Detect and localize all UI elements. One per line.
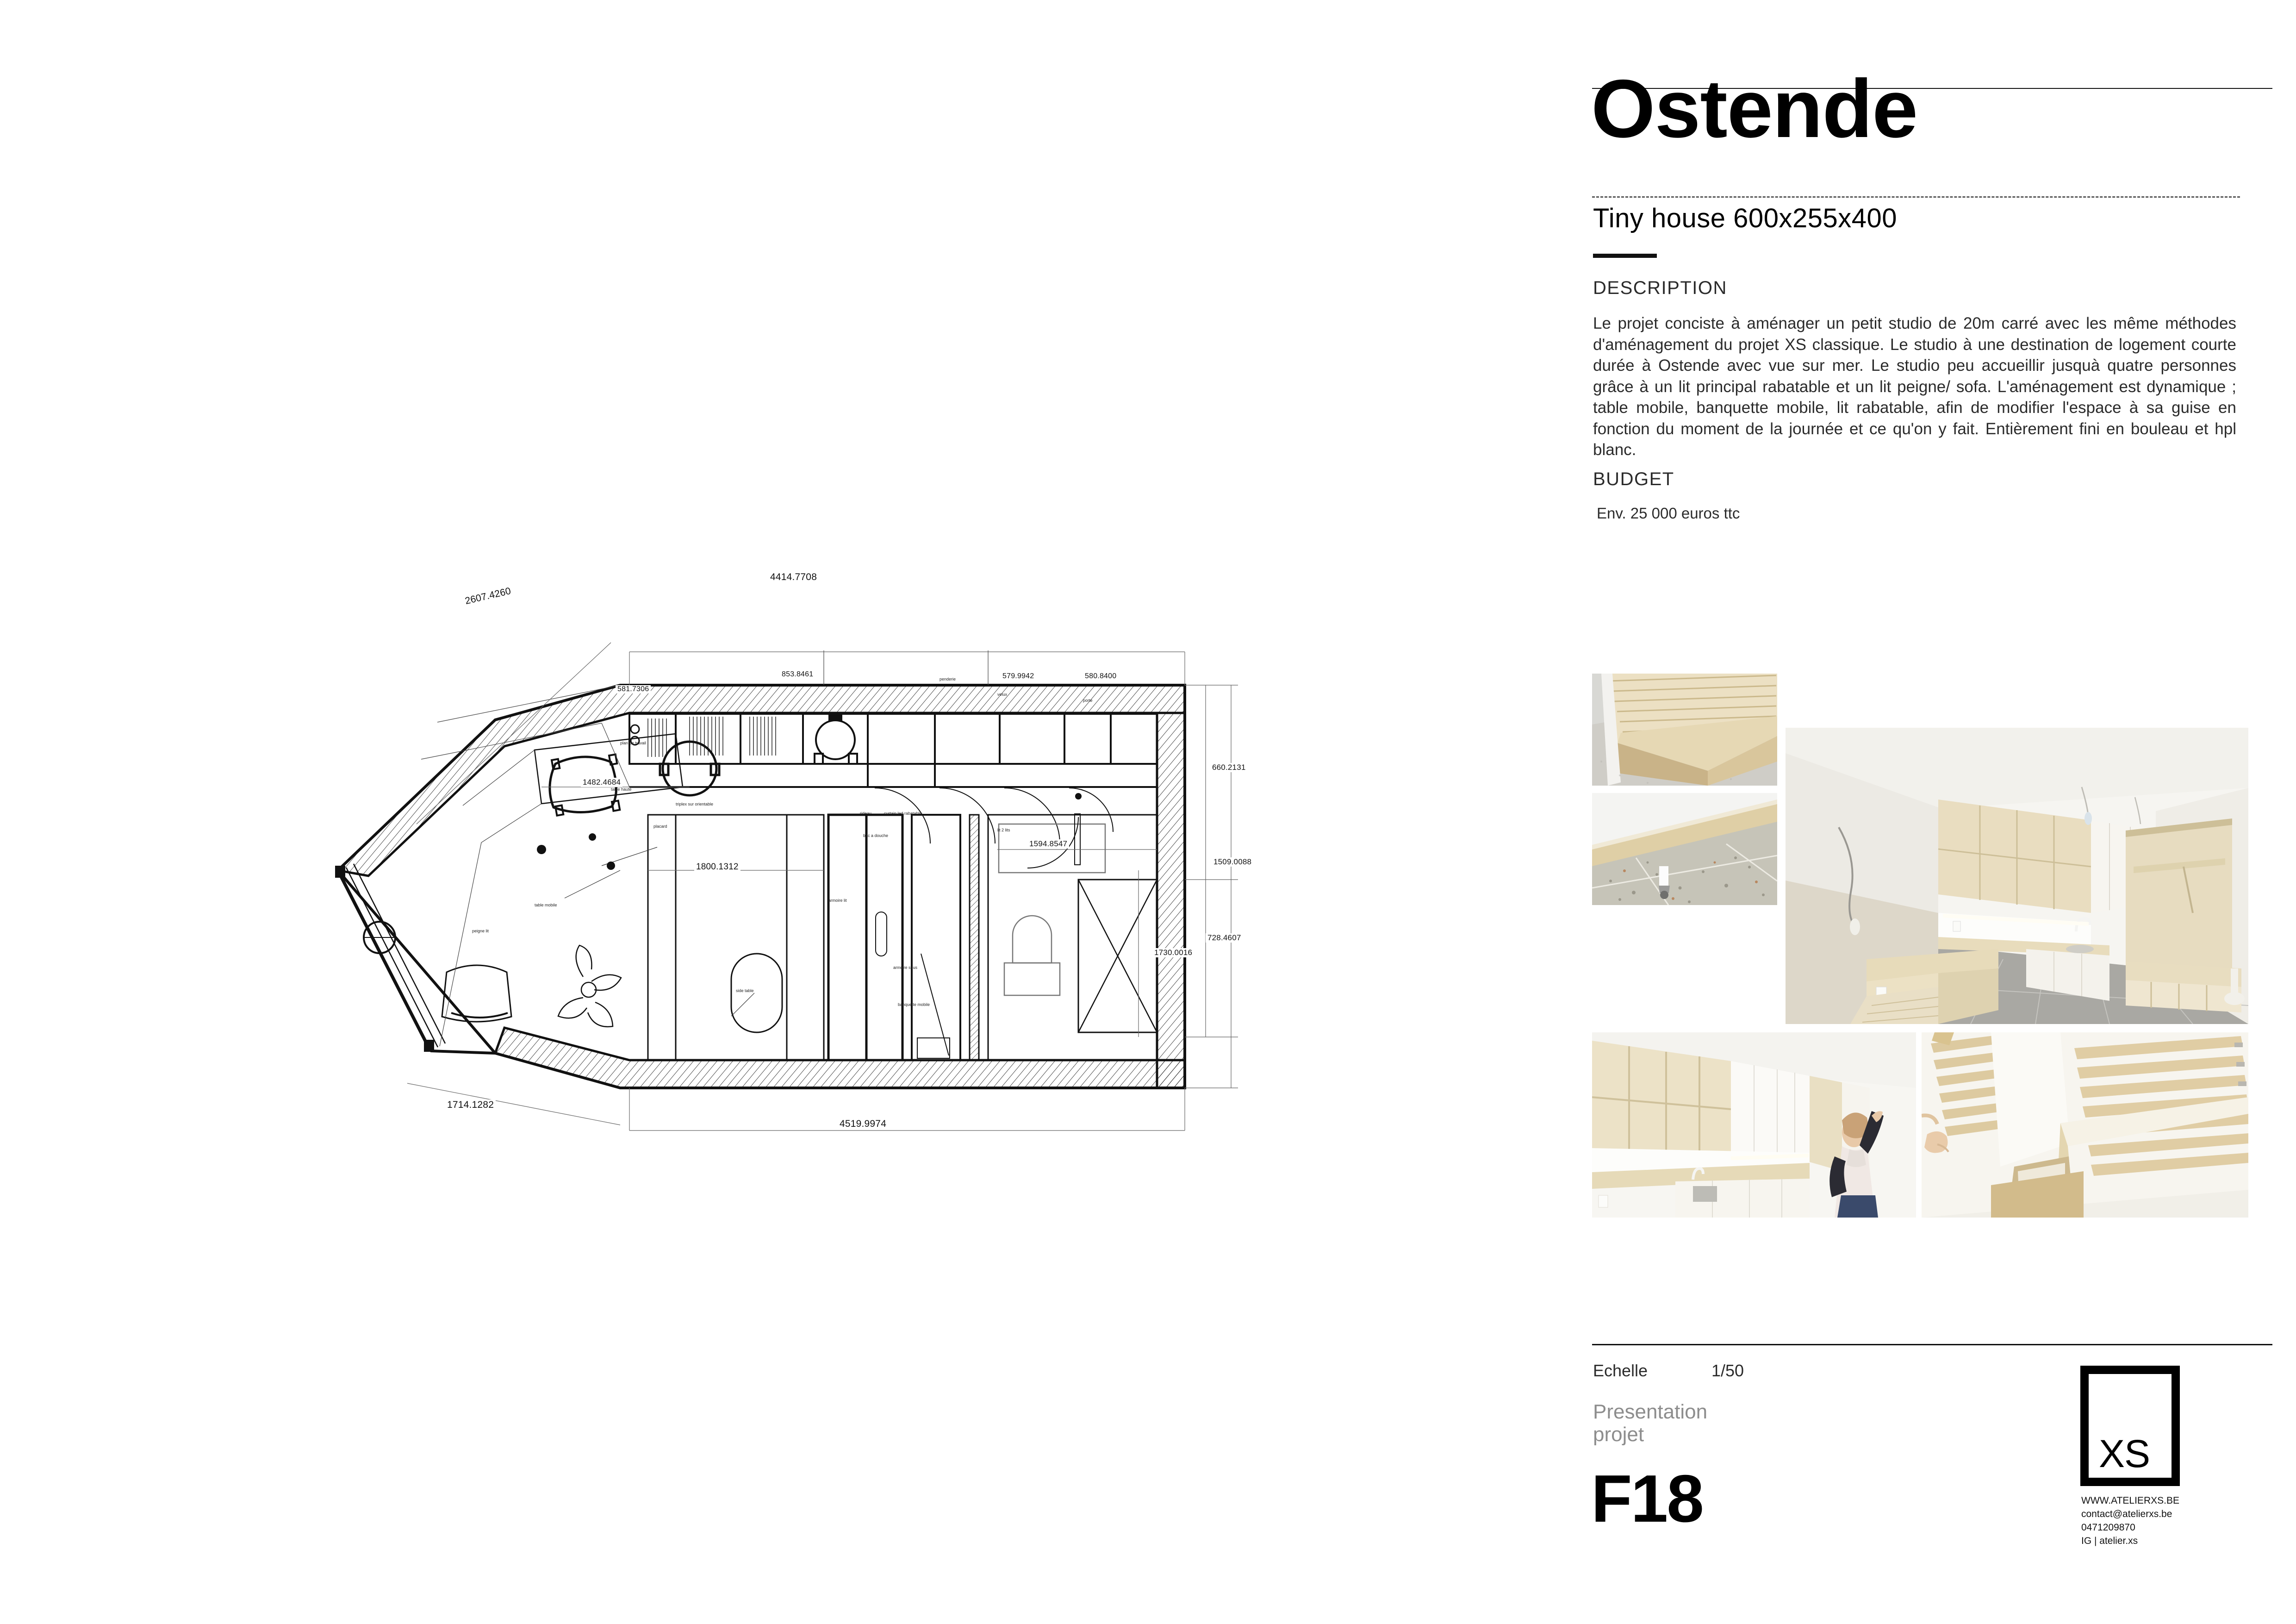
dim-bed: 1800.1312 [694,862,740,872]
plan-wall-east [1157,713,1185,1088]
plan-hob [815,713,857,764]
dim-bath-w: 1594.8547 [1027,839,1069,849]
note-rideau: rideau [860,811,871,816]
plan-armchair [442,965,511,1022]
description-heading: DESCRIPTION [1593,278,1727,299]
note-table-mobile: table mobile [535,903,557,907]
plan-wall-south [495,1028,1185,1088]
plan-outer-wall [338,685,1185,1088]
note-banquette-mobile: banquette mobile [898,1002,930,1007]
note-side-table: side table [736,988,754,993]
title-dashed-rule [1592,196,2240,198]
dim-table: 1482.4684 [581,778,622,787]
plan-hall [912,815,960,1060]
plan-leader-lines [565,847,754,1016]
info-panel: Ostende Tiny house 600x255x400 DESCRIPTI… [1541,0,2296,1624]
description-body: Le projet conciste à aménager un petit s… [1593,313,2236,461]
budget-heading: BUDGET [1593,469,1674,490]
dim-kitchen-d: 580.8400 [1083,672,1118,681]
dim-kitchen-b: 853.8461 [780,670,815,679]
note-armoire-sous: armoire sous [893,965,917,970]
page-subtitle: Tiny house 600x255x400 [1593,203,1897,234]
document-type: Presentation projet [1593,1400,1707,1446]
contact-block: WWW.ATELIERXS.BE contact@atelierxs.be 04… [2081,1494,2179,1548]
photo-grid [1592,674,2249,1317]
note-table-haute: table haute [611,787,632,792]
note-bac-douche: bac a douche [863,833,888,838]
dim-kitchen-c: 579.9942 [1001,672,1036,681]
note-lit-peigne: peigne lit [472,929,489,933]
note-armoire-lit: armoire lit [828,898,847,903]
page-title: Ostende [1591,69,1917,149]
photo-bed-slats-detail [1922,1032,2248,1218]
dim-bottom-main: 4519.9974 [838,1118,888,1130]
floor-plan: 2607.4260 4414.7708 581.7306 853.8461 57… [324,546,1287,1143]
photo-bed-slats-open [1592,674,1777,786]
sheet-number: F18 [1591,1465,1703,1532]
footer-rule [1592,1344,2272,1345]
photo-shelving-person [1592,1032,1916,1218]
note-lit-2: lit 2 lits [997,828,1010,832]
note-triplex: triplex sur orientable [676,802,713,806]
floor-plan-svg [324,546,1287,1143]
note-penderie: penderie [940,677,956,681]
xs-logo: XS [2080,1366,2180,1486]
scale-value: 1/50 [1711,1361,1744,1380]
plan-kitchen-run [629,714,1157,764]
scale-label: Echelle [1593,1361,1648,1380]
photo-interior-kitchen [1786,728,2248,1024]
dim-right-top: 660.2131 [1210,763,1248,772]
dim-kitchen-a: 581.7306 [616,685,651,693]
note-curtain: curtain led rabatable [884,811,922,816]
dim-right-mid: 1509.0088 [1212,857,1253,867]
dim-bottom-left: 1714.1282 [445,1099,496,1111]
dim-bath-h: 1730.0016 [1152,948,1194,957]
note-porte: porte [1083,698,1093,703]
dim-top-main: 4414.7708 [768,572,819,583]
section-divider-dash [1593,254,1657,258]
photo-floor-caster-detail [1592,793,1777,905]
budget-value: Env. 25 000 euros ttc [1597,505,1740,522]
note-velux: velux [997,692,1007,697]
note-placard: placard [653,824,667,829]
xs-logo-text: XS [2099,1434,2150,1473]
plan-cabinet-slats [648,717,776,757]
note-plan-travail: plan de travail [620,741,646,745]
plan-counter-band [629,764,1157,787]
dim-right-low: 728.4607 [1206,933,1243,943]
plan-plant [558,945,621,1027]
plan-bathroom [970,814,1157,1060]
plan-bed [648,815,824,1060]
drawing-panel: 2607.4260 4414.7708 581.7306 853.8461 57… [0,0,1541,1624]
plan-wardrobe [828,815,902,1060]
